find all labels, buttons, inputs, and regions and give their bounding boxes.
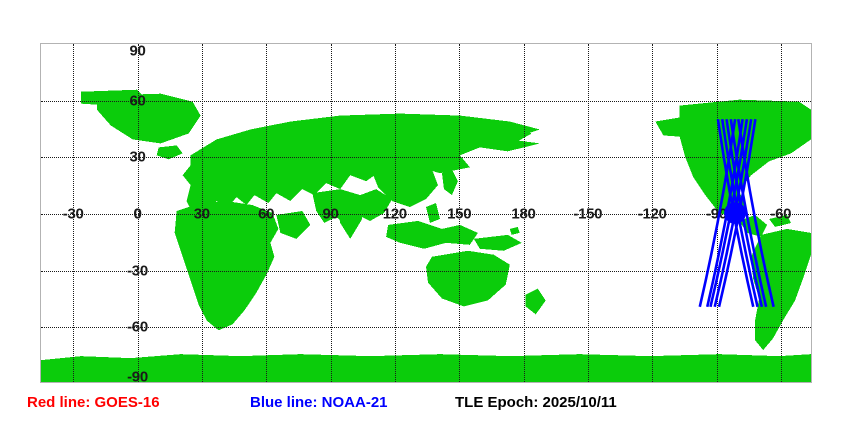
landmass-layer [41, 44, 811, 382]
parallel-60 [41, 101, 811, 102]
latitude-label--90: -90 [127, 370, 148, 383]
indonesia [386, 221, 478, 249]
parallel--60 [41, 327, 811, 328]
latitude-label--30: -30 [127, 263, 148, 278]
parallel--30 [41, 271, 811, 272]
india [336, 201, 362, 239]
longitude-label--30: -30 [63, 207, 84, 222]
longitude-label-30: 30 [194, 207, 210, 222]
longitude-label--150: -150 [573, 207, 602, 222]
antarctica [41, 354, 811, 382]
longitude-label-90: 90 [322, 207, 338, 222]
central-america [739, 215, 767, 237]
longitude-label--90: -90 [706, 207, 727, 222]
legend-tle-epoch: TLE Epoch: 2025/10/11 [455, 392, 617, 414]
map-canvas: -300306090120150180-150-120-90-609060300… [41, 44, 811, 382]
parallel-0 [41, 214, 811, 215]
latitude-label--60: -60 [127, 320, 148, 335]
arabia [276, 211, 310, 239]
world-map-panel: -300306090120150180-150-120-90-609060300… [40, 43, 812, 383]
latitude-label-30: 30 [129, 150, 145, 165]
latitude-label-60: 60 [129, 93, 145, 108]
island-dots-pacific-2 [510, 227, 520, 235]
longitude-label-120: 120 [383, 207, 407, 222]
philippines [426, 203, 440, 223]
north-america [679, 100, 811, 217]
legend-red-line-goes16: Red line: GOES-16 [27, 392, 160, 414]
longitude-label--60: -60 [770, 207, 791, 222]
latitude-label-90: 90 [129, 44, 145, 59]
japan [442, 169, 458, 195]
latitude-label-0: 0 [133, 207, 141, 222]
australia [426, 251, 510, 307]
legend: Red line: GOES-16 Blue line: NOAA-21 TLE… [0, 392, 850, 425]
longitude-label--120: -120 [638, 207, 667, 222]
longitude-label-150: 150 [447, 207, 471, 222]
new-zealand [526, 289, 546, 315]
legend-blue-line-noaa21: Blue line: NOAA-21 [250, 392, 388, 414]
new-guinea [474, 235, 522, 251]
parallel-30 [41, 157, 811, 158]
longitude-label-60: 60 [258, 207, 274, 222]
longitude-label-180: 180 [511, 207, 535, 222]
